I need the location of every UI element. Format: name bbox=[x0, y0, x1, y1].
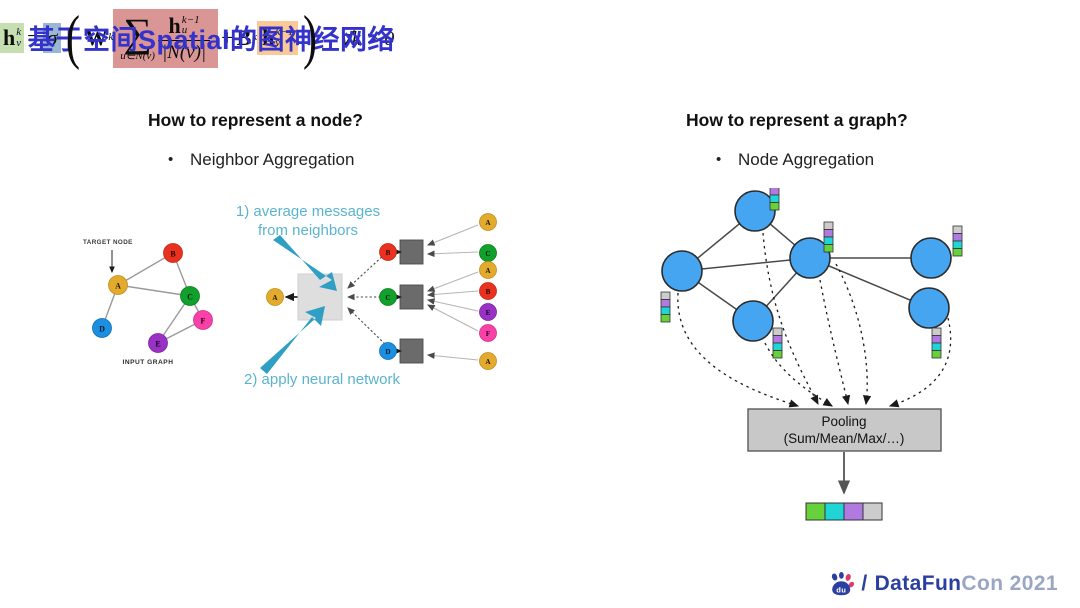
graph-node bbox=[733, 301, 773, 341]
formula-close-paren: ) bbox=[303, 19, 317, 56]
pooling-label-line2: (Sum/Mean/Max/…) bbox=[784, 431, 905, 446]
graph-node bbox=[662, 251, 702, 291]
left-column-heading: How to represent a node? bbox=[148, 110, 363, 131]
graph-node bbox=[911, 238, 951, 278]
annotation-average-messages-line1: 1) average messages bbox=[236, 203, 380, 220]
graph-node-B: B bbox=[164, 244, 183, 263]
svg-text:A: A bbox=[485, 267, 491, 275]
svg-text:A: A bbox=[485, 219, 491, 227]
formula-open-paren: ( bbox=[66, 19, 80, 56]
graph-node-C: C bbox=[181, 287, 200, 306]
tree-branch-B: B A C bbox=[380, 214, 497, 265]
svg-text:B: B bbox=[486, 288, 491, 296]
svg-text:D: D bbox=[99, 325, 105, 334]
bullet-marker-icon: • bbox=[168, 151, 190, 168]
graph-embedding-vector bbox=[806, 503, 882, 520]
graph-node bbox=[735, 191, 775, 231]
svg-text:D: D bbox=[385, 348, 390, 356]
feature-vector bbox=[770, 188, 779, 210]
footer-brand-primary: DataFun bbox=[875, 572, 962, 595]
tree-branch-C: C A B E F bbox=[380, 262, 497, 342]
input-graph-nodes: A B C D E F bbox=[93, 244, 213, 353]
svg-text:C: C bbox=[385, 294, 390, 302]
annotation-average-messages-line2: from neighbors bbox=[258, 222, 358, 239]
svg-text:A: A bbox=[272, 294, 278, 302]
pooling-label-line1: Pooling bbox=[821, 414, 866, 429]
input-graph-label: INPUT GRAPH bbox=[123, 359, 174, 366]
svg-text:C: C bbox=[187, 293, 193, 302]
baidu-paw-logo-icon: du bbox=[829, 572, 854, 596]
svg-text:A: A bbox=[115, 282, 121, 291]
svg-text:E: E bbox=[155, 340, 160, 349]
svg-text:F: F bbox=[486, 330, 491, 338]
svg-text:du: du bbox=[837, 585, 847, 594]
feature-vector bbox=[661, 292, 670, 322]
feature-vector bbox=[824, 222, 833, 252]
graph-node bbox=[909, 288, 949, 328]
graph-node-A: A bbox=[109, 276, 128, 295]
graph-node-D: D bbox=[93, 319, 112, 338]
footer-slash: / bbox=[861, 572, 867, 596]
feature-vector bbox=[773, 328, 782, 358]
svg-text:E: E bbox=[486, 309, 491, 317]
left-column-bullet-item: •Neighbor Aggregation bbox=[168, 150, 354, 170]
graph-nodes bbox=[662, 191, 951, 341]
right-column-heading: How to represent a graph? bbox=[686, 110, 908, 131]
output-node-A: A bbox=[267, 289, 284, 306]
annotation-apply-neural-network: 2) apply neural network bbox=[244, 371, 400, 388]
right-column-bullet-label: Node Aggregation bbox=[738, 150, 874, 169]
neighbor-aggregation-diagram: A B C D E F TARGET NODE INPUT GRAPH A bbox=[60, 192, 530, 397]
page-title: 基于空间Spatial的图神经网络 bbox=[28, 18, 395, 57]
left-column-bullet-label: Neighbor Aggregation bbox=[190, 150, 354, 169]
svg-text:C: C bbox=[485, 250, 490, 258]
right-column-bullet-item: •Node Aggregation bbox=[716, 150, 874, 170]
svg-text:B: B bbox=[386, 249, 391, 257]
graph-node-F: F bbox=[194, 311, 213, 330]
svg-text:B: B bbox=[170, 250, 176, 259]
svg-text:A: A bbox=[485, 358, 491, 366]
footer-brand-secondary: Con 2021 bbox=[961, 572, 1058, 595]
feature-vector bbox=[932, 328, 941, 358]
graph-node-E: E bbox=[149, 334, 168, 353]
formula-lhs-sub: v bbox=[16, 38, 21, 49]
target-node-label: TARGET NODE bbox=[83, 239, 133, 246]
feature-vector bbox=[953, 226, 962, 256]
footer-brand: DataFunCon 2021 bbox=[875, 572, 1058, 596]
footer-branding: du / DataFunCon 2021 bbox=[829, 572, 1058, 596]
tree-branch-D: D A bbox=[380, 339, 497, 370]
node-aggregation-diagram: Pooling (Sum/Mean/Max/…) bbox=[660, 188, 1060, 538]
annotation-arrow-2 bbox=[260, 306, 325, 374]
bullet-marker-icon: • bbox=[716, 151, 738, 168]
svg-text:F: F bbox=[201, 317, 206, 326]
formula-lhs: h k v bbox=[0, 23, 24, 53]
